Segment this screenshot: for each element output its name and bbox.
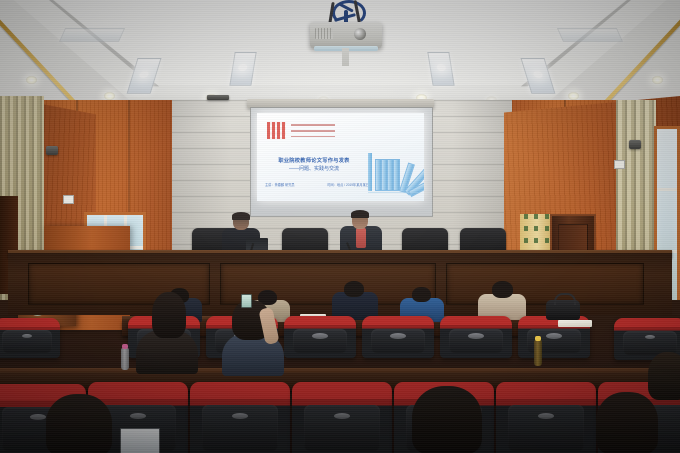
slide-footer-presenter: 主讲：黄春麟 研究员 xyxy=(265,182,295,187)
attendee-r4-a-head xyxy=(46,394,112,453)
downlight-6 xyxy=(652,76,663,84)
seat-r4-3[interactable] xyxy=(190,382,290,453)
speaker-right-hair xyxy=(351,210,369,218)
projector xyxy=(310,22,382,48)
water-bottle xyxy=(121,348,129,370)
projector-lens xyxy=(354,28,366,40)
falling-books-graphic xyxy=(368,151,418,193)
seat-r2-6[interactable] xyxy=(440,316,512,358)
wall-speaker-left xyxy=(46,146,58,155)
wall-switch-left[interactable] xyxy=(63,195,74,204)
attendee-r3-longhair-head xyxy=(152,292,186,338)
desk-papers-right xyxy=(558,320,592,327)
attendee-r4-c-head xyxy=(596,392,658,453)
seat-r2-5[interactable] xyxy=(362,316,434,358)
tea-bottle xyxy=(534,340,542,366)
conference-room-photo: 职业院校教师论文写作与发表 ——问题、实践与交流 主讲：黄春麟 研究员 时间：地… xyxy=(0,0,680,453)
wall-switch-right[interactable] xyxy=(614,160,625,169)
ceiling-recess-strip-left xyxy=(59,28,125,42)
slide-footer-meta: 时间：地点 / 2019年某月某日 xyxy=(327,182,369,187)
attendee-r4-b-head xyxy=(412,386,482,453)
laptop-screen-foreground[interactable] xyxy=(120,428,160,453)
speaker-right-shirt xyxy=(356,228,366,248)
slide-subtitle: ——问题、实践与交流 xyxy=(265,165,363,173)
wall-speaker-right xyxy=(629,140,641,149)
seat-r2-1[interactable] xyxy=(0,318,60,358)
slide-footer: 主讲：黄春麟 研究员 时间：地点 / 2019年某月某日 xyxy=(265,182,369,187)
attendee-r4-d-head xyxy=(648,352,680,400)
downlight-2 xyxy=(104,92,115,100)
speaker-left-hair xyxy=(232,212,250,220)
attendee-r1-b-head xyxy=(492,281,513,298)
head-table-panel-3 xyxy=(446,263,644,305)
ceiling-recess-strip-right xyxy=(557,28,623,42)
downlight-5 xyxy=(568,92,579,100)
attendee-r1-e-head xyxy=(412,287,431,302)
seat-r2-4[interactable] xyxy=(284,316,356,358)
smartphone[interactable] xyxy=(241,294,252,308)
slide-organization-text xyxy=(291,124,335,137)
presentation-slide: 职业院校教师论文写作与发表 ——问题、实践与交流 主讲：黄春麟 研究员 时间：地… xyxy=(257,113,424,201)
attendee-r1-a-head xyxy=(344,281,364,297)
seat-r4-6[interactable] xyxy=(496,382,596,453)
projector-pole xyxy=(342,48,349,66)
projection-screen: 职业院校教师论文写作与发表 ——问题、实践与交流 主讲：黄春麟 研究员 时间：地… xyxy=(250,107,433,217)
downlight-1 xyxy=(26,76,37,84)
slide-title: 职业院校教师论文写作与发表 xyxy=(265,157,363,165)
ceiling xyxy=(0,0,680,104)
seat-r4-4[interactable] xyxy=(292,382,392,453)
shoulder-bag xyxy=(546,300,580,320)
ceiling-vent xyxy=(207,95,229,100)
institution-logo-icon xyxy=(267,122,286,139)
